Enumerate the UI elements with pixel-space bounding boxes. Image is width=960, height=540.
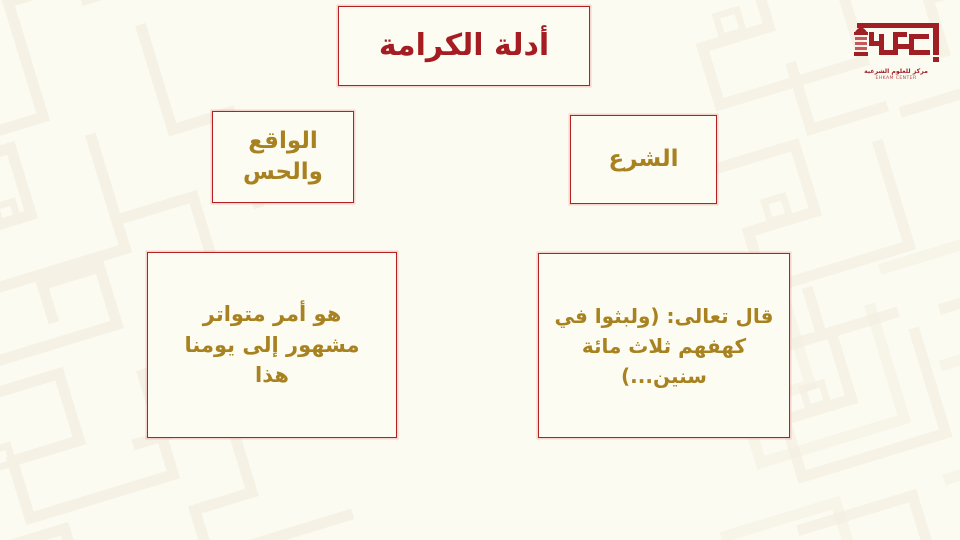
branch-detail-label-reality: هو أمر متواتر مشهور إلى يومنا هذا (164, 299, 380, 390)
ehkam-logo-subtitle-secondary: EHKAM CENTER (875, 76, 916, 81)
ehkam-logo: مركز للعلوم الشرعية EHKAM CENTER (844, 18, 948, 92)
branch-heading-box-shariah: الشرع (570, 115, 717, 204)
diagram-title-box: أدلة الكرامة (338, 6, 590, 86)
branch-detail-box-shariah: قال تعالى: (ولبثوا في كهفهم ثلاث مائة سن… (538, 253, 790, 438)
diagram-title-label: أدلة الكرامة (379, 26, 549, 67)
branch-heading-box-reality: الواقع والحس (212, 111, 354, 203)
branch-heading-label-reality: الواقع والحس (213, 126, 353, 188)
ehkam-logo-icon (847, 18, 945, 66)
branch-detail-label-shariah: قال تعالى: (ولبثوا في كهفهم ثلاث مائة سن… (553, 301, 775, 391)
slide-canvas: أدلة الكرامة الواقع والحس الشرع هو أمر م… (0, 0, 960, 540)
ehkam-logo-subtitle: مركز للعلوم الشرعية (864, 68, 928, 75)
branch-heading-label-shariah: الشرع (609, 144, 679, 175)
branch-detail-box-reality: هو أمر متواتر مشهور إلى يومنا هذا (147, 252, 397, 438)
